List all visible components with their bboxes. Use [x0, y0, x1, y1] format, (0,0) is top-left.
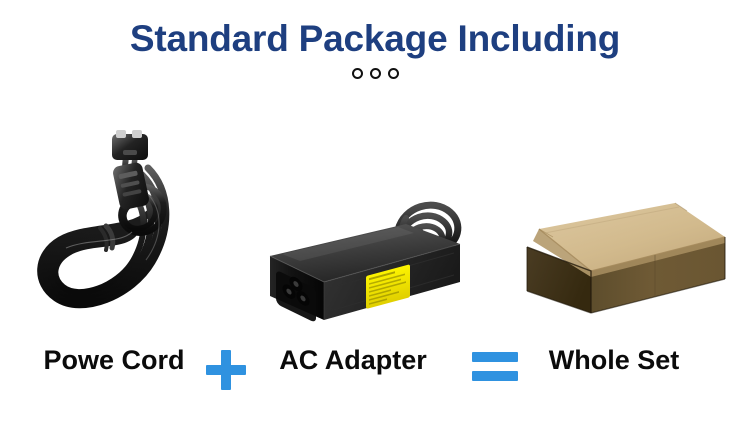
- power-cord-image: [20, 128, 200, 333]
- cardboard-box-image: [505, 193, 740, 333]
- caption-ac-adapter: AC Adapter: [228, 345, 478, 376]
- header: Standard Package Including: [0, 0, 750, 120]
- page-title: Standard Package Including: [0, 0, 750, 59]
- product-stage: [0, 118, 750, 343]
- ac-adapter-image: [248, 178, 468, 338]
- separator-dots: [0, 68, 750, 79]
- ring-icon-1: [352, 68, 363, 79]
- caption-power-cord: Powe Cord: [0, 345, 228, 376]
- caption-whole-set: Whole Set: [478, 345, 750, 376]
- power-cord-illustration: [20, 128, 200, 333]
- plug-body-icon: [112, 161, 150, 210]
- cardboard-box-illustration: [505, 193, 740, 333]
- plug-head-icon: [112, 130, 148, 160]
- ring-icon-3: [388, 68, 399, 79]
- captions-row: Powe Cord AC Adapter Whole Set: [0, 345, 750, 405]
- ring-icon-2: [370, 68, 381, 79]
- ac-adapter-illustration: [248, 178, 468, 338]
